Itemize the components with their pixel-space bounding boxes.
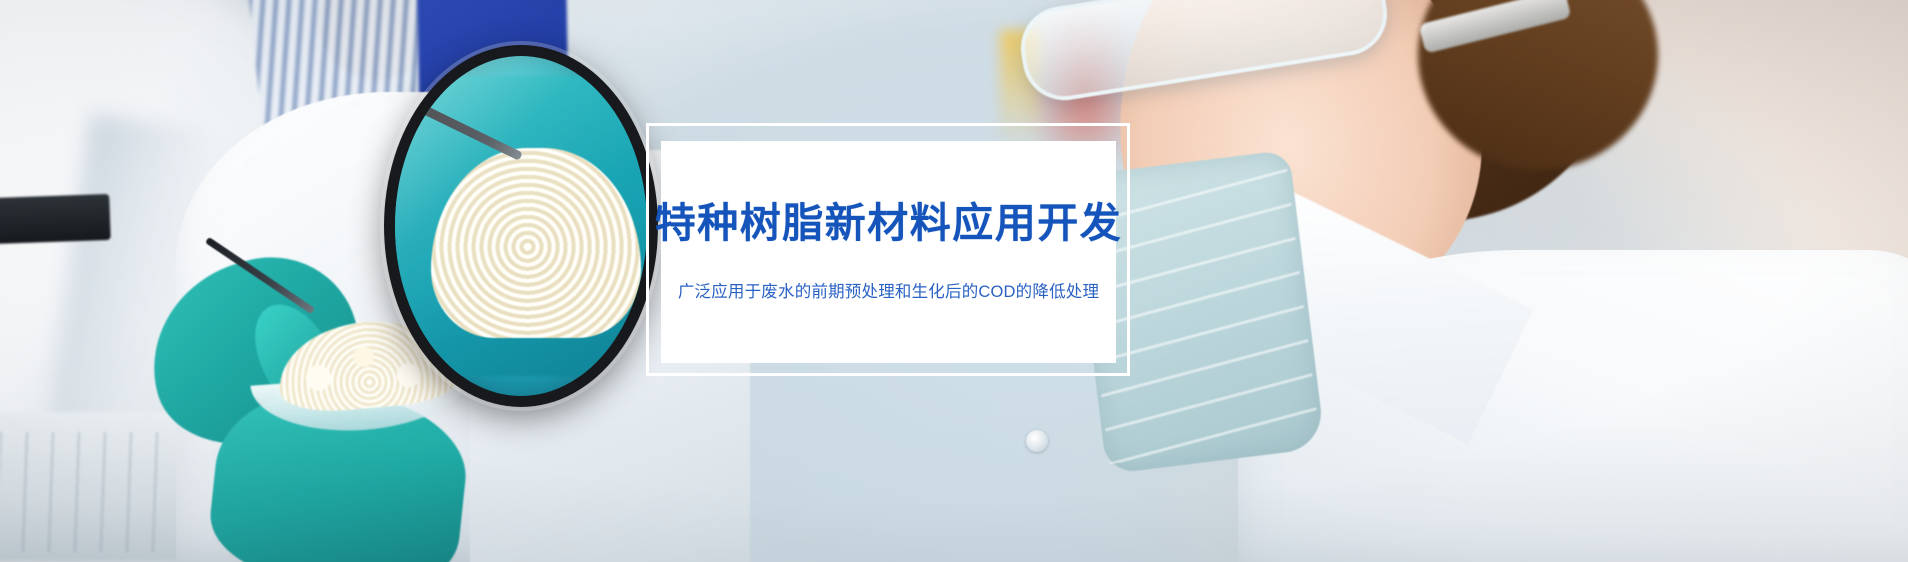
hero-banner: 特种树脂新材料应用开发 广泛应用于废水的前期预处理和生化后的COD的降低处理: [0, 0, 1908, 562]
overlay-text-panel: 特种树脂新材料应用开发 广泛应用于废水的前期预处理和生化后的COD的降低处理: [661, 141, 1116, 363]
banner-subline: 广泛应用于废水的前期预处理和生化后的COD的降低处理: [678, 284, 1099, 301]
banner-headline: 特种树脂新材料应用开发: [655, 203, 1123, 244]
